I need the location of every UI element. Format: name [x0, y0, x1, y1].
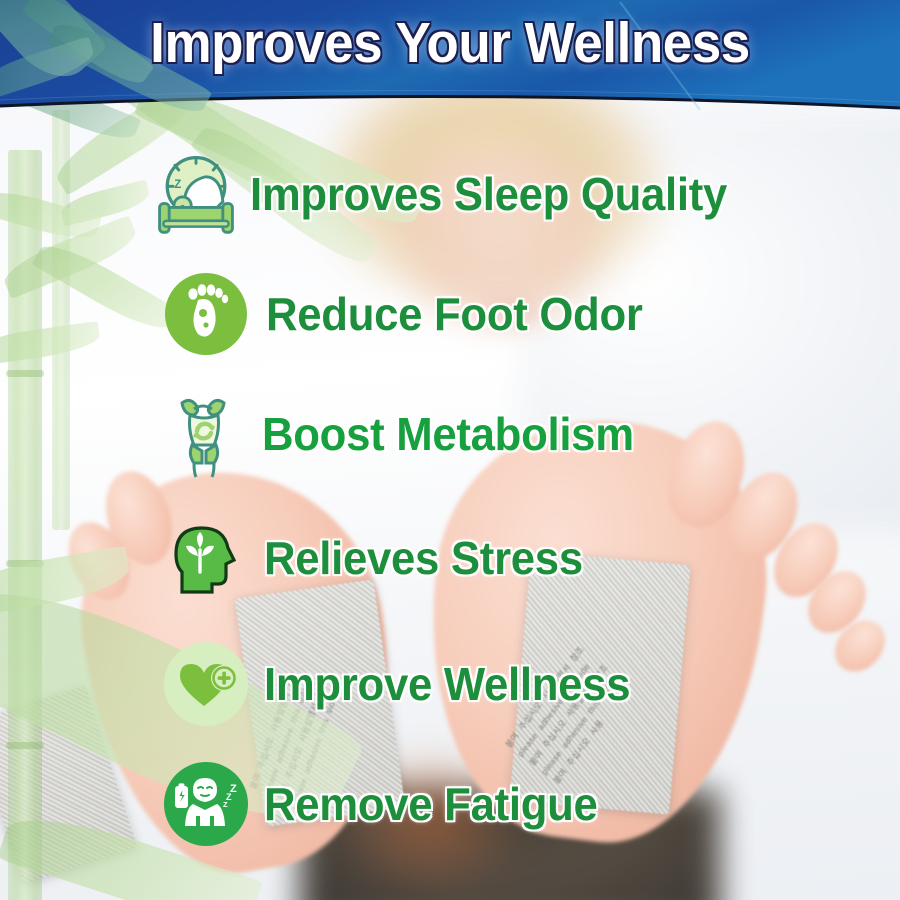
heart-medical-plus-icon	[160, 638, 252, 730]
feature-label: Improves Sleep Quality	[250, 167, 727, 221]
svg-text:Z: Z	[174, 179, 181, 191]
feature-label: Improve Wellness	[264, 657, 630, 711]
product-infographic: 붙여 주십시오 사용설명서 참조 please adhesive this si…	[0, 0, 900, 900]
feature-row-sleep[interactable]: z Z Improves Sleep Quality	[150, 148, 752, 240]
feature-label: Relieves Stress	[264, 531, 583, 585]
feature-row-odor[interactable]: Reduce Foot Odor	[160, 268, 662, 360]
feature-label: Reduce Foot Odor	[266, 287, 643, 341]
head-leaf-icon	[158, 512, 250, 604]
svg-text:Z: Z	[223, 800, 228, 809]
feature-row-metabolism[interactable]: Boost Metabolism	[158, 388, 653, 480]
sleep-clock-bed-icon: z Z	[150, 148, 242, 240]
feature-label: Boost Metabolism	[262, 407, 634, 461]
feature-row-wellness[interactable]: Improve Wellness	[160, 638, 650, 730]
feature-row-stress[interactable]: Relieves Stress	[158, 512, 600, 604]
body-metabolism-recycle-icon	[158, 388, 250, 480]
header-banner: Improves Your Wellness	[0, 0, 900, 112]
footprint-icon	[160, 268, 252, 360]
tired-person-battery-zzz-icon: Z Z Z	[160, 758, 252, 850]
feature-row-fatigue[interactable]: Z Z Z Remove Fatigue	[160, 758, 615, 850]
page-title: Improves Your Wellness	[32, 12, 869, 74]
feature-label: Remove Fatigue	[264, 777, 598, 831]
